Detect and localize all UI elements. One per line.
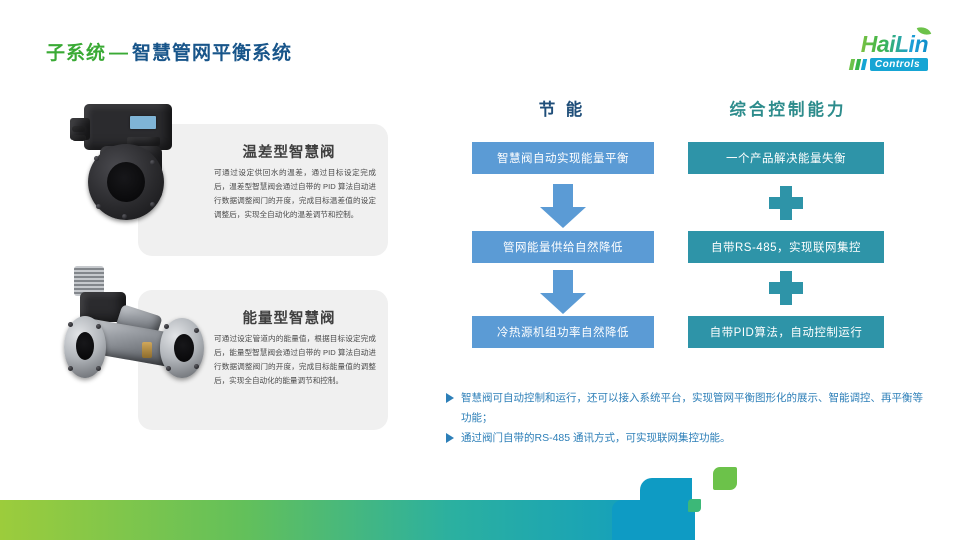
energy-type-smart-valve-photo	[56, 266, 206, 386]
list-item: 通过阀门自带的RS-485 通讯方式，可实现联网集控功能。	[446, 428, 924, 448]
plus-icon	[769, 186, 803, 220]
footer-decoration-cyan	[640, 478, 692, 540]
flow-box-energy-2: 管网能量供给自然降低	[472, 231, 654, 263]
chevron-right-icon	[446, 433, 454, 443]
footer-decoration-green-large	[713, 467, 737, 490]
column-heading-control-capability: 综合控制能力	[682, 96, 894, 120]
page-title-prefix: 子系统	[46, 43, 106, 64]
flow-box-energy-3: 冷热源机组功率自然降低	[472, 316, 654, 348]
logo-subline: Controls	[850, 58, 928, 71]
flow-box-control-1: 一个产品解决能量失衡	[688, 142, 884, 174]
flow-box-energy-1: 智慧阀自动实现能量平衡	[472, 142, 654, 174]
chevron-right-icon	[446, 393, 454, 403]
product-card-description: 可通过设定管道内的能量值，根据目标设定完成后，能量型智慧阀会通过自带的 PID …	[214, 332, 376, 388]
leaf-icon	[917, 24, 932, 37]
footer-gradient-bar	[0, 500, 695, 540]
arrow-down-icon	[540, 184, 586, 228]
hailin-logo: HaiLin Controls	[804, 30, 928, 74]
temperature-differential-smart-valve-photo	[70, 104, 198, 226]
logo-wordmark: HaiLin	[861, 33, 928, 56]
page-title: 子系统—智慧管网平衡系统	[46, 38, 292, 65]
logo-bars-icon	[850, 59, 866, 70]
product-card-description: 可通过设定供回水的温差，通过目标设定完成后，温差型智慧阀会通过自带的 PID 算…	[214, 166, 376, 222]
list-item: 智慧阀可自动控制和运行，还可以接入系统平台，实现管网平衡图形化的展示、智能调控、…	[446, 388, 924, 428]
flow-box-control-2: 自带RS-485，实现联网集控	[688, 231, 884, 263]
summary-bullet-list: 智慧阀可自动控制和运行，还可以接入系统平台，实现管网平衡图形化的展示、智能调控、…	[446, 388, 924, 448]
page-title-main: 智慧管网平衡系统	[132, 43, 292, 64]
footer-decoration-green-small	[688, 499, 701, 512]
bullet-text: 智慧阀可自动控制和运行，还可以接入系统平台，实现管网平衡图形化的展示、智能调控、…	[461, 388, 924, 428]
page-title-dash: —	[106, 43, 132, 64]
logo-controls-label: Controls	[870, 58, 928, 71]
bullet-text: 通过阀门自带的RS-485 通讯方式，可实现联网集控功能。	[461, 428, 924, 448]
flow-box-control-3: 自带PID算法，自动控制运行	[688, 316, 884, 348]
column-heading-energy-saving: 节 能	[466, 96, 658, 120]
arrow-down-icon	[540, 270, 586, 314]
plus-icon	[769, 271, 803, 305]
